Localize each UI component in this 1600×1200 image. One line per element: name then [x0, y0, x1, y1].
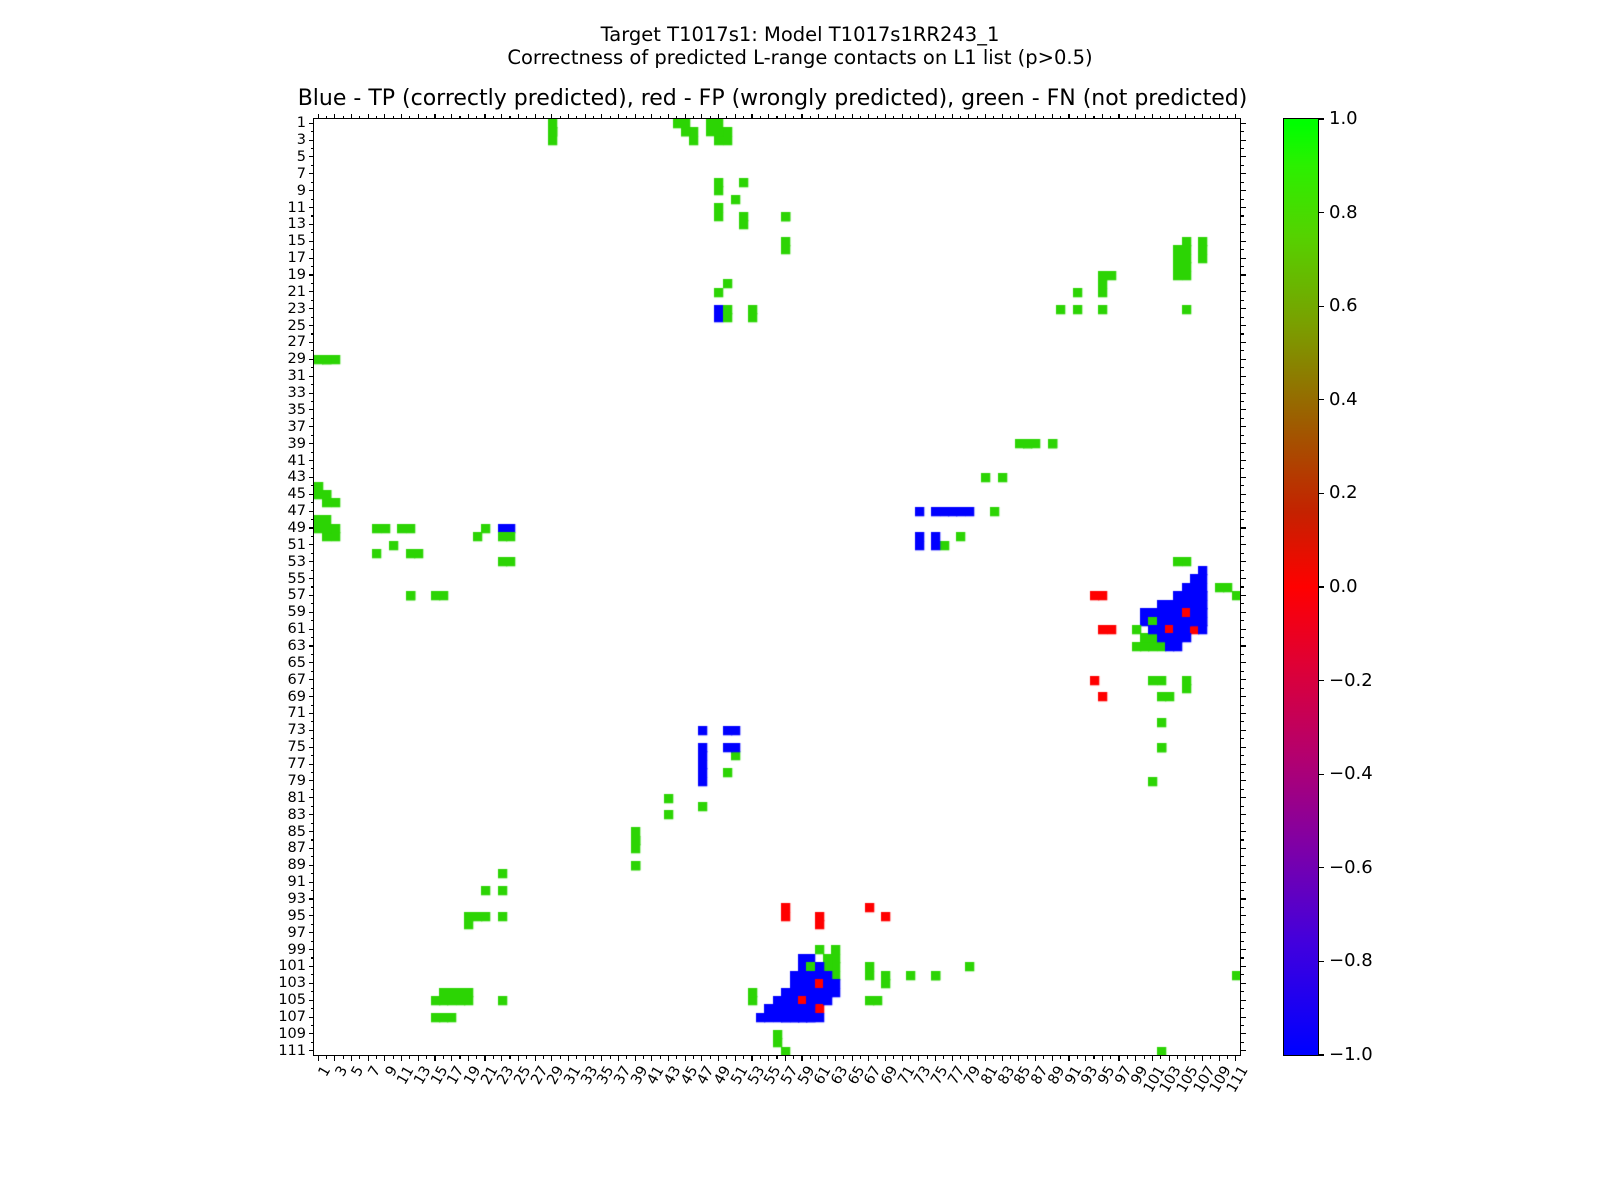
y-tick-right-59 — [1240, 612, 1246, 613]
y-tick-right-44 — [1240, 485, 1244, 486]
x-tick-35 — [601, 1055, 602, 1061]
x-tick-54 — [760, 1055, 761, 1059]
y-tick-84 — [311, 823, 315, 824]
colorbar-tick-label-3: 0.4 — [1329, 391, 1358, 409]
y-tick-37 — [309, 426, 315, 427]
y-tick-label-101: 101 — [278, 959, 306, 974]
y-tick-93 — [309, 898, 315, 899]
x-tick-top-16 — [443, 116, 444, 120]
y-tick-2 — [311, 131, 315, 132]
y-tick-91 — [309, 882, 315, 883]
y-tick-36 — [311, 418, 315, 419]
x-tick-top-8 — [376, 116, 377, 120]
x-tick-30 — [560, 1055, 561, 1059]
y-tick-right-12 — [1240, 215, 1244, 216]
y-tick-98 — [311, 941, 315, 942]
x-tick-top-92 — [1077, 116, 1078, 120]
y-tick-label-39: 39 — [288, 436, 306, 451]
colorbar-tick-label-9: −0.8 — [1329, 952, 1373, 970]
y-tick-101 — [309, 966, 315, 967]
y-tick-right-97 — [1240, 932, 1246, 933]
y-tick-57 — [309, 595, 315, 596]
y-tick-111 — [309, 1050, 315, 1051]
y-tick-4 — [311, 148, 315, 149]
x-tick-top-98 — [1127, 116, 1128, 120]
y-tick-right-93 — [1240, 898, 1246, 899]
y-tick-label-35: 35 — [288, 403, 306, 418]
x-tick-108 — [1210, 1055, 1211, 1059]
x-tick-24 — [509, 1055, 510, 1059]
x-tick-44 — [676, 1055, 677, 1059]
y-tick-label-25: 25 — [288, 318, 306, 333]
x-tick-37 — [618, 1055, 619, 1061]
x-tick-26 — [526, 1055, 527, 1059]
colorbar[interactable]: 1.00.80.60.40.20.0−0.2−0.4−0.6−0.8−1.0 — [1283, 118, 1319, 1056]
x-tick-57 — [785, 1055, 786, 1061]
y-tick-right-83 — [1240, 814, 1246, 815]
x-tick-top-51 — [735, 114, 736, 120]
x-tick-80 — [977, 1055, 978, 1059]
y-tick-label-17: 17 — [288, 251, 306, 266]
y-tick-73 — [309, 730, 315, 731]
y-tick-label-97: 97 — [288, 925, 306, 940]
y-tick-label-45: 45 — [288, 487, 306, 502]
y-tick-label-103: 103 — [278, 976, 306, 991]
x-tick-5 — [351, 1055, 352, 1061]
y-tick-right-75 — [1240, 747, 1246, 748]
colorbar-tick-4 — [1318, 493, 1324, 494]
x-tick-top-53 — [751, 114, 752, 120]
y-tick-label-91: 91 — [288, 875, 306, 890]
y-tick-right-71 — [1240, 713, 1246, 714]
x-tick-top-89 — [1052, 114, 1053, 120]
x-tick-13 — [418, 1055, 419, 1061]
x-tick-104 — [1177, 1055, 1178, 1059]
x-tick-20 — [476, 1055, 477, 1059]
x-tick-top-30 — [560, 116, 561, 120]
y-tick-78 — [311, 772, 315, 773]
y-tick-right-85 — [1240, 831, 1246, 832]
x-tick-83 — [1002, 1055, 1003, 1061]
y-tick-50 — [311, 536, 315, 537]
y-tick-label-77: 77 — [288, 757, 306, 772]
y-tick-right-25 — [1240, 325, 1246, 326]
y-tick-64 — [311, 654, 315, 655]
y-tick-53 — [309, 561, 315, 562]
x-tick-top-93 — [1085, 114, 1086, 120]
x-tick-top-52 — [743, 116, 744, 120]
x-tick-top-12 — [409, 116, 410, 120]
y-tick-25 — [309, 325, 315, 326]
x-tick-91 — [1068, 1055, 1069, 1061]
y-tick-65 — [309, 662, 315, 663]
y-tick-26 — [311, 333, 315, 334]
x-tick-69 — [885, 1055, 886, 1061]
y-tick-right-10 — [1240, 199, 1244, 200]
x-tick-top-55 — [768, 114, 769, 120]
y-tick-59 — [309, 612, 315, 613]
x-tick-top-70 — [893, 116, 894, 120]
x-tick-64 — [843, 1055, 844, 1059]
x-tick-top-36 — [610, 116, 611, 120]
y-tick-right-76 — [1240, 755, 1244, 756]
y-tick-right-23 — [1240, 308, 1246, 309]
y-tick-label-99: 99 — [288, 942, 306, 957]
y-tick-right-36 — [1240, 418, 1244, 419]
y-tick-right-28 — [1240, 350, 1244, 351]
x-tick-50 — [726, 1055, 727, 1059]
x-tick-top-84 — [1010, 116, 1011, 120]
y-tick-22 — [311, 300, 315, 301]
y-tick-right-98 — [1240, 941, 1244, 942]
x-tick-89 — [1052, 1055, 1053, 1061]
x-tick-45 — [685, 1055, 686, 1061]
x-tick-88 — [1043, 1055, 1044, 1059]
y-tick-45 — [309, 494, 315, 495]
y-tick-label-95: 95 — [288, 909, 306, 924]
y-tick-right-53 — [1240, 561, 1246, 562]
y-tick-right-35 — [1240, 409, 1246, 410]
x-tick-31 — [568, 1055, 569, 1061]
y-tick-right-96 — [1240, 924, 1244, 925]
x-tick-top-111 — [1235, 114, 1236, 120]
y-tick-17 — [309, 258, 315, 259]
x-tick-41 — [651, 1055, 652, 1061]
x-tick-4 — [343, 1055, 344, 1059]
y-tick-right-9 — [1240, 190, 1246, 191]
y-tick-9 — [309, 190, 315, 191]
y-tick-right-3 — [1240, 140, 1246, 141]
y-tick-right-108 — [1240, 1025, 1244, 1026]
x-tick-label-5: 5 — [350, 1064, 367, 1079]
x-tick-top-29 — [551, 114, 552, 120]
x-tick-top-19 — [468, 114, 469, 120]
y-tick-94 — [311, 907, 315, 908]
y-tick-right-49 — [1240, 527, 1246, 528]
x-tick-42 — [660, 1055, 661, 1059]
y-tick-label-37: 37 — [288, 420, 306, 435]
y-tick-label-13: 13 — [288, 217, 306, 232]
x-tick-top-72 — [910, 116, 911, 120]
x-tick-25 — [518, 1055, 519, 1061]
x-tick-56 — [776, 1055, 777, 1059]
x-tick-77 — [952, 1055, 953, 1061]
x-tick-84 — [1010, 1055, 1011, 1059]
x-tick-14 — [426, 1055, 427, 1059]
y-tick-label-111: 111 — [278, 1044, 306, 1059]
y-tick-105 — [309, 1000, 315, 1001]
y-tick-right-37 — [1240, 426, 1246, 427]
colorbar-tick-1 — [1318, 212, 1324, 213]
x-tick-9 — [384, 1055, 385, 1061]
contact-map-plot-area[interactable]: 1357911131517192123252729313335373941434… — [313, 118, 1241, 1056]
x-tick-top-82 — [993, 116, 994, 120]
y-tick-right-63 — [1240, 645, 1246, 646]
y-tick-right-86 — [1240, 839, 1244, 840]
y-tick-109 — [309, 1033, 315, 1034]
y-tick-21 — [309, 291, 315, 292]
x-tick-top-18 — [459, 116, 460, 120]
x-tick-8 — [376, 1055, 377, 1059]
x-tick-101 — [1152, 1055, 1153, 1061]
x-tick-68 — [877, 1055, 878, 1059]
x-tick-71 — [902, 1055, 903, 1061]
x-tick-top-13 — [418, 114, 419, 120]
y-tick-19 — [309, 274, 315, 275]
x-tick-top-102 — [1160, 116, 1161, 120]
colorbar-tick-2 — [1318, 306, 1324, 307]
y-tick-55 — [309, 578, 315, 579]
y-tick-label-9: 9 — [297, 183, 306, 198]
x-tick-33 — [585, 1055, 586, 1061]
y-tick-106 — [311, 1008, 315, 1009]
y-tick-61 — [309, 629, 315, 630]
x-tick-29 — [551, 1055, 552, 1061]
y-tick-right-79 — [1240, 780, 1246, 781]
y-tick-right-48 — [1240, 519, 1244, 520]
x-tick-103 — [1169, 1055, 1170, 1061]
x-tick-top-32 — [576, 116, 577, 120]
y-tick-66 — [311, 671, 315, 672]
y-tick-97 — [309, 932, 315, 933]
x-tick-top-25 — [518, 114, 519, 120]
y-tick-right-8 — [1240, 182, 1244, 183]
x-tick-top-54 — [760, 116, 761, 120]
x-tick-81 — [985, 1055, 986, 1061]
y-tick-right-54 — [1240, 570, 1244, 571]
x-tick-top-108 — [1210, 116, 1211, 120]
y-tick-label-87: 87 — [288, 841, 306, 856]
x-tick-top-7 — [368, 114, 369, 120]
axes-title-legend: Blue - TP (correctly predicted), red - F… — [0, 86, 1545, 111]
y-tick-right-34 — [1240, 401, 1244, 402]
y-tick-right-82 — [1240, 806, 1244, 807]
x-tick-90 — [1060, 1055, 1061, 1059]
x-tick-111 — [1235, 1055, 1236, 1061]
contact-map-canvas[interactable] — [314, 119, 1240, 1055]
y-tick-right-51 — [1240, 544, 1246, 545]
y-tick-46 — [311, 502, 315, 503]
y-tick-right-81 — [1240, 797, 1246, 798]
colorbar-tick-7 — [1318, 774, 1324, 775]
x-tick-top-33 — [585, 114, 586, 120]
x-tick-top-38 — [626, 116, 627, 120]
x-tick-52 — [743, 1055, 744, 1059]
y-tick-right-64 — [1240, 654, 1244, 655]
y-tick-right-24 — [1240, 317, 1244, 318]
y-tick-right-26 — [1240, 333, 1244, 334]
y-tick-80 — [311, 789, 315, 790]
y-tick-40 — [311, 452, 315, 453]
y-tick-right-77 — [1240, 764, 1246, 765]
y-tick-29 — [309, 359, 315, 360]
y-tick-right-105 — [1240, 1000, 1246, 1001]
x-tick-top-14 — [426, 116, 427, 120]
x-tick-top-44 — [676, 116, 677, 120]
x-tick-86 — [1027, 1055, 1028, 1059]
x-tick-18 — [459, 1055, 460, 1059]
x-tick-top-66 — [860, 116, 861, 120]
y-tick-right-99 — [1240, 949, 1246, 950]
colorbar-tick-10 — [1318, 1054, 1324, 1055]
y-tick-99 — [309, 949, 315, 950]
y-tick-31 — [309, 376, 315, 377]
x-tick-85 — [1018, 1055, 1019, 1061]
y-tick-right-89 — [1240, 865, 1246, 866]
y-tick-103 — [309, 983, 315, 984]
y-tick-label-71: 71 — [288, 706, 306, 721]
y-tick-48 — [311, 519, 315, 520]
y-tick-right-66 — [1240, 671, 1244, 672]
x-tick-top-50 — [726, 116, 727, 120]
y-tick-38 — [311, 435, 315, 436]
x-tick-top-40 — [643, 116, 644, 120]
y-tick-86 — [311, 839, 315, 840]
x-tick-66 — [860, 1055, 861, 1059]
x-tick-93 — [1085, 1055, 1086, 1061]
y-tick-47 — [309, 511, 315, 512]
y-tick-label-3: 3 — [297, 133, 306, 148]
colorbar-tick-label-8: −0.6 — [1329, 859, 1373, 877]
y-tick-right-27 — [1240, 342, 1246, 343]
y-tick-label-7: 7 — [297, 167, 306, 182]
y-tick-56 — [311, 586, 315, 587]
y-tick-108 — [311, 1025, 315, 1026]
x-tick-49 — [718, 1055, 719, 1061]
y-tick-92 — [311, 890, 315, 891]
x-tick-106 — [1194, 1055, 1195, 1059]
x-tick-top-23 — [501, 114, 502, 120]
x-tick-top-35 — [601, 114, 602, 120]
x-tick-74 — [927, 1055, 928, 1059]
y-tick-right-58 — [1240, 603, 1244, 604]
y-tick-right-43 — [1240, 477, 1246, 478]
y-tick-label-89: 89 — [288, 858, 306, 873]
x-tick-76 — [943, 1055, 944, 1059]
x-tick-top-96 — [1110, 116, 1111, 120]
colorbar-tick-5 — [1318, 586, 1324, 587]
y-tick-18 — [311, 266, 315, 267]
y-tick-27 — [309, 342, 315, 343]
x-tick-39 — [635, 1055, 636, 1061]
colorbar-tick-label-2: 0.6 — [1329, 297, 1358, 315]
y-tick-label-29: 29 — [288, 352, 306, 367]
x-tick-top-27 — [535, 114, 536, 120]
y-tick-right-45 — [1240, 494, 1246, 495]
x-tick-top-47 — [701, 114, 702, 120]
x-tick-top-68 — [877, 116, 878, 120]
x-tick-top-64 — [843, 116, 844, 120]
x-tick-top-10 — [393, 116, 394, 120]
x-tick-72 — [910, 1055, 911, 1059]
figure-suptitle-line-2: Correctness of predicted L-range contact… — [0, 45, 1600, 71]
y-tick-right-88 — [1240, 856, 1244, 857]
y-tick-60 — [311, 620, 315, 621]
x-tick-top-99 — [1135, 114, 1136, 120]
x-tick-top-65 — [852, 114, 853, 120]
x-tick-top-4 — [343, 116, 344, 120]
y-tick-right-50 — [1240, 536, 1244, 537]
x-tick-top-31 — [568, 114, 569, 120]
x-tick-top-90 — [1060, 116, 1061, 120]
y-tick-right-18 — [1240, 266, 1244, 267]
x-tick-58 — [793, 1055, 794, 1059]
x-tick-82 — [993, 1055, 994, 1059]
y-tick-right-21 — [1240, 291, 1246, 292]
x-tick-top-56 — [776, 116, 777, 120]
x-tick-23 — [501, 1055, 502, 1061]
x-tick-96 — [1110, 1055, 1111, 1059]
x-tick-15 — [434, 1055, 435, 1061]
y-tick-right-67 — [1240, 679, 1246, 680]
y-tick-81 — [309, 797, 315, 798]
x-tick-107 — [1202, 1055, 1203, 1061]
y-tick-right-110 — [1240, 1042, 1244, 1043]
x-tick-97 — [1118, 1055, 1119, 1061]
y-tick-1 — [309, 123, 315, 124]
y-tick-right-2 — [1240, 131, 1244, 132]
y-tick-7 — [309, 173, 315, 174]
x-tick-top-74 — [927, 116, 928, 120]
x-tick-top-45 — [685, 114, 686, 120]
x-tick-top-109 — [1219, 114, 1220, 120]
y-tick-right-111 — [1240, 1050, 1246, 1051]
y-tick-right-70 — [1240, 705, 1244, 706]
y-tick-5 — [309, 156, 315, 157]
x-tick-62 — [827, 1055, 828, 1059]
x-tick-top-15 — [434, 114, 435, 120]
y-tick-23 — [309, 308, 315, 309]
y-tick-right-17 — [1240, 258, 1246, 259]
x-tick-65 — [852, 1055, 853, 1061]
x-tick-top-22 — [493, 116, 494, 120]
y-tick-104 — [311, 991, 315, 992]
x-tick-top-2 — [326, 116, 327, 120]
y-tick-75 — [309, 747, 315, 748]
x-tick-top-57 — [785, 114, 786, 120]
x-tick-top-43 — [668, 114, 669, 120]
y-tick-49 — [309, 527, 315, 528]
x-tick-16 — [443, 1055, 444, 1059]
y-tick-right-102 — [1240, 974, 1244, 975]
y-tick-right-74 — [1240, 738, 1244, 739]
y-tick-right-47 — [1240, 511, 1246, 512]
x-tick-top-21 — [484, 114, 485, 120]
y-tick-74 — [311, 738, 315, 739]
y-tick-3 — [309, 140, 315, 141]
x-tick-59 — [801, 1055, 802, 1061]
x-tick-105 — [1185, 1055, 1186, 1061]
x-tick-top-20 — [476, 116, 477, 120]
y-tick-label-65: 65 — [288, 656, 306, 671]
y-tick-label-19: 19 — [288, 268, 306, 283]
y-tick-69 — [309, 696, 315, 697]
x-tick-top-103 — [1169, 114, 1170, 120]
y-tick-label-23: 23 — [288, 301, 306, 316]
y-tick-right-6 — [1240, 165, 1244, 166]
y-tick-right-31 — [1240, 376, 1246, 377]
y-tick-6 — [311, 165, 315, 166]
x-tick-top-61 — [818, 114, 819, 120]
x-tick-36 — [610, 1055, 611, 1059]
x-tick-47 — [701, 1055, 702, 1061]
y-tick-right-106 — [1240, 1008, 1244, 1009]
y-tick-label-21: 21 — [288, 285, 306, 300]
y-tick-11 — [309, 207, 315, 208]
x-tick-top-41 — [651, 114, 652, 120]
y-tick-label-53: 53 — [288, 554, 306, 569]
y-tick-right-72 — [1240, 721, 1244, 722]
